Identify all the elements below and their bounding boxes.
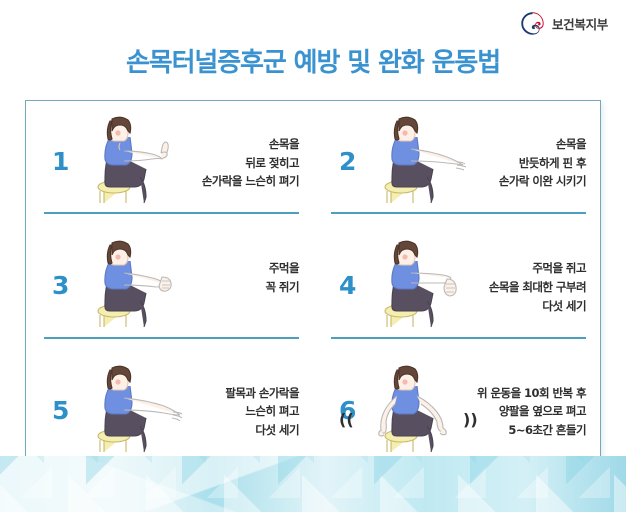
- exercise-text-4: 주먹을 쥐고 손목을 최대한 구부려 다섯 세기: [411, 259, 586, 315]
- exercise-card: 1: [25, 100, 601, 475]
- exercise-panel-1: 1: [26, 101, 313, 225]
- exercise-text-6: 위 운동을 10회 반복 후 양팔을 옆으로 펴고 5~6초간 흔들기: [411, 384, 586, 440]
- ministry-logo: 보건복지부: [520, 11, 608, 36]
- floor-line-3: [44, 337, 299, 339]
- exercise-text-5: 팔목과 손가락을 느슨히 펴고 다섯 세기: [124, 384, 299, 440]
- exercise-panel-4: 4: [313, 225, 600, 349]
- exercise-text-3: 주먹을 꼭 쥐기: [124, 259, 299, 296]
- exercise-number-2: 2: [339, 149, 356, 174]
- floor-line-2: [331, 212, 586, 214]
- exercise-panel-3: 3: [26, 225, 313, 349]
- korea-government-taegeuk-icon: [520, 11, 545, 36]
- infographic-root: 보건복지부 손목터널증후군 예방 및 완화 운동법 1: [0, 0, 626, 512]
- exercise-panel-2: 2: [313, 101, 600, 225]
- exercise-number-1: 1: [52, 149, 69, 174]
- floor-line-4: [331, 337, 586, 339]
- ministry-name: 보건복지부: [552, 14, 608, 33]
- page-title: 손목터널증후군 예방 및 완화 운동법: [0, 42, 626, 79]
- exercise-text-1: 손목을 뒤로 젖히고 손가락을 느슨히 펴기: [124, 135, 299, 191]
- exercise-text-2: 손목을 반듯하게 핀 후 손가락 이완 시키기: [411, 135, 586, 191]
- floor-line-1: [44, 212, 299, 214]
- exercise-number-4: 4: [339, 273, 356, 298]
- background-facet-pattern: [0, 456, 626, 512]
- exercise-grid: 1: [26, 101, 600, 474]
- exercise-number-3: 3: [52, 273, 69, 298]
- shake-mark-left: ((: [339, 412, 354, 428]
- exercise-number-5: 5: [52, 398, 69, 423]
